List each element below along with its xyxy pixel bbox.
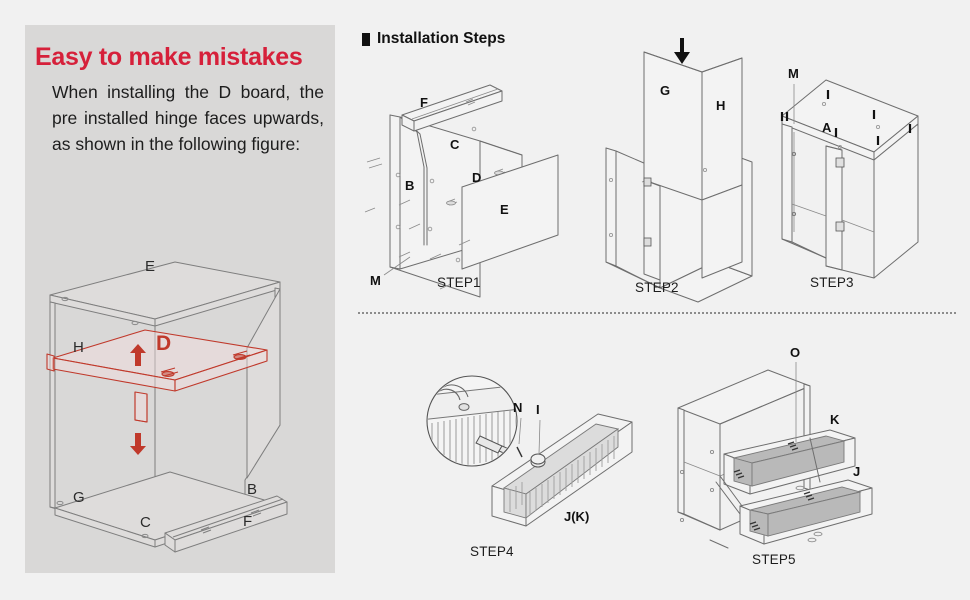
step4-label: STEP4 [470,544,514,559]
step3-label-M: M [788,66,799,81]
section-divider [358,312,956,314]
step5-figure: O K J [660,342,960,550]
label-B: B [247,481,257,498]
square-bullet-icon [362,33,370,46]
instruction-sheet: Easy to make mistakes When installing th… [0,0,970,600]
step1-label-M: M [370,273,381,288]
step3-label: STEP3 [810,275,854,290]
mistakes-panel: Easy to make mistakes When installing th… [25,25,335,573]
label-H: H [73,339,84,356]
step2-label: STEP2 [635,280,679,295]
steps-header: Installation Steps [362,30,505,48]
step2-figure: G H [602,30,792,302]
installation-steps-panel: Installation Steps [352,22,962,578]
step1-label-D: D [472,170,481,185]
step2-label-G: G [660,83,670,98]
label-F: F [243,513,252,530]
step2-label-H: H [716,98,725,113]
step5-label-O: O [790,345,800,360]
mistakes-description: When installing the D board, the pre ins… [52,80,324,158]
steps-header-label: Installation Steps [377,30,505,48]
step5-label: STEP5 [752,552,796,567]
step1-label-C: C [450,137,460,152]
step1-label: STEP1 [437,275,481,290]
step4-figure: N I J(K) [420,374,650,549]
label-G: G [73,489,85,506]
label-C: C [140,514,151,531]
step1-label-F: F [420,95,428,110]
step5-label-J: J [853,464,860,479]
step1-label-B: B [405,178,414,193]
step3-label-A: A [822,120,832,135]
step4-label-JK: J(K) [564,509,589,524]
step3-figure: M A [770,54,960,304]
label-D: D [156,332,171,355]
step5-label-K: K [830,412,840,427]
step4-label-I: I [536,402,540,417]
step1-label-E: E [500,202,509,217]
page-title: Easy to make mistakes [35,43,302,72]
step4-label-N: N [513,400,522,415]
mistake-figure: E H D G B C F [25,240,335,573]
step1-figure: F C B D E M [362,57,602,302]
label-E: E [145,258,155,275]
